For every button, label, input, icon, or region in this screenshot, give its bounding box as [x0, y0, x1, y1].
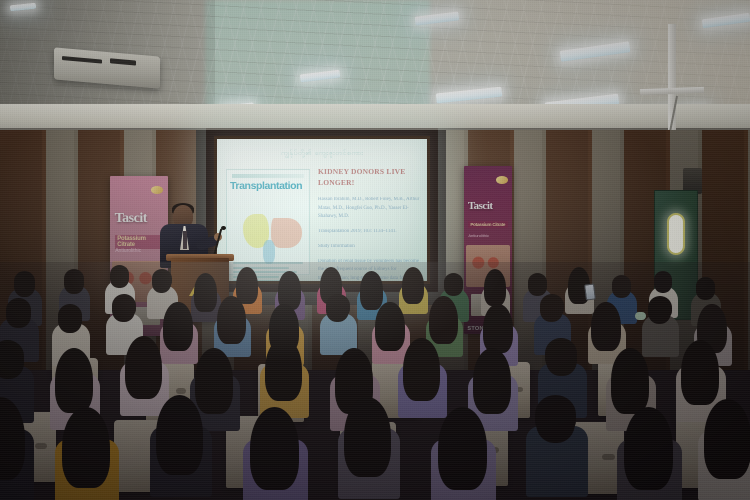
audience-member-hair [163, 302, 192, 352]
audience-member-hair [402, 267, 424, 304]
audience-member-hair [403, 338, 440, 401]
audience-member-hair [58, 304, 83, 328]
slide-paragraph: Transplantation 2019; 103: 1134–1141. [318, 228, 420, 237]
audience-member-hair [64, 269, 85, 289]
door-window [667, 213, 685, 255]
audience-member-hair [429, 296, 458, 344]
audience-member-hair [612, 275, 631, 294]
audience-member-hair [112, 294, 136, 317]
audience-member-hair [6, 298, 32, 323]
audience-member-hair [156, 395, 204, 476]
audience-member-hair [217, 296, 246, 344]
audience-member-hair [110, 265, 129, 284]
organ-illustration-c [263, 240, 275, 264]
projection-screen: ကျွန်ုပ်တို့၏ ကျေးဇူးတင်စကား Transplanta… [217, 139, 427, 281]
audience-member-hair [611, 348, 650, 414]
journal-title: Transplantation [230, 180, 306, 192]
slide-header-burmese: ကျွန်ုပ်တို့၏ ကျေးဇူးတင်စကား [217, 149, 427, 159]
audience-member-hair [528, 273, 547, 292]
audience-member-hair [14, 271, 36, 292]
audience-member-hair [654, 271, 673, 289]
journal-cover-image: Transplantation [226, 169, 310, 275]
audience-member-hair [55, 348, 93, 412]
audience-member-hair [484, 269, 506, 306]
audience-member-hair [545, 338, 577, 369]
slide-paragraph: Study Information [318, 243, 420, 252]
audience-member-hair [540, 294, 564, 317]
audience-member-hair [473, 348, 512, 414]
audience-member-hair [591, 302, 620, 352]
audience-member-hair [696, 277, 715, 296]
audience-member-hair [194, 273, 217, 311]
speaker-tie [183, 231, 187, 249]
audience-member-hair [344, 397, 392, 478]
conference-hall-photo: ကျွန်ုပ်တို့၏ ကျေးဇူးတင်စကား Transplanta… [0, 0, 750, 500]
organ-illustration-b [271, 218, 302, 248]
slide-paragraph: Hassan Ibrahim, M.D., Robert Foley, M.B.… [318, 196, 420, 222]
audience-member-hair [483, 304, 512, 354]
smartphone-icon [584, 283, 596, 300]
audience-member-hair [535, 395, 576, 434]
audience-member-hair [195, 348, 234, 414]
audience-member-hair [326, 294, 350, 317]
journal-brandline [232, 174, 304, 178]
audience-area [0, 262, 750, 500]
slide-heading: KIDNEY DONORS LIVE LONGER! [318, 167, 420, 189]
microphone-icon [221, 226, 226, 230]
audience-member-hair [152, 269, 172, 288]
audience-member-hair [360, 271, 383, 309]
audience-member-hair [444, 273, 463, 292]
audience-member-hair [438, 407, 487, 490]
audience-member-hair [704, 399, 750, 480]
audience-member-hair [62, 407, 110, 489]
audience-member-hair [681, 340, 719, 404]
audience-member-hair [624, 407, 673, 490]
audience-member-hair [375, 302, 404, 352]
audience-member-hair [648, 296, 672, 319]
audience-member-hair [265, 338, 302, 401]
face-mask-icon [635, 312, 646, 320]
audience-member-hair [250, 407, 299, 490]
audience-member-hair [125, 336, 162, 399]
